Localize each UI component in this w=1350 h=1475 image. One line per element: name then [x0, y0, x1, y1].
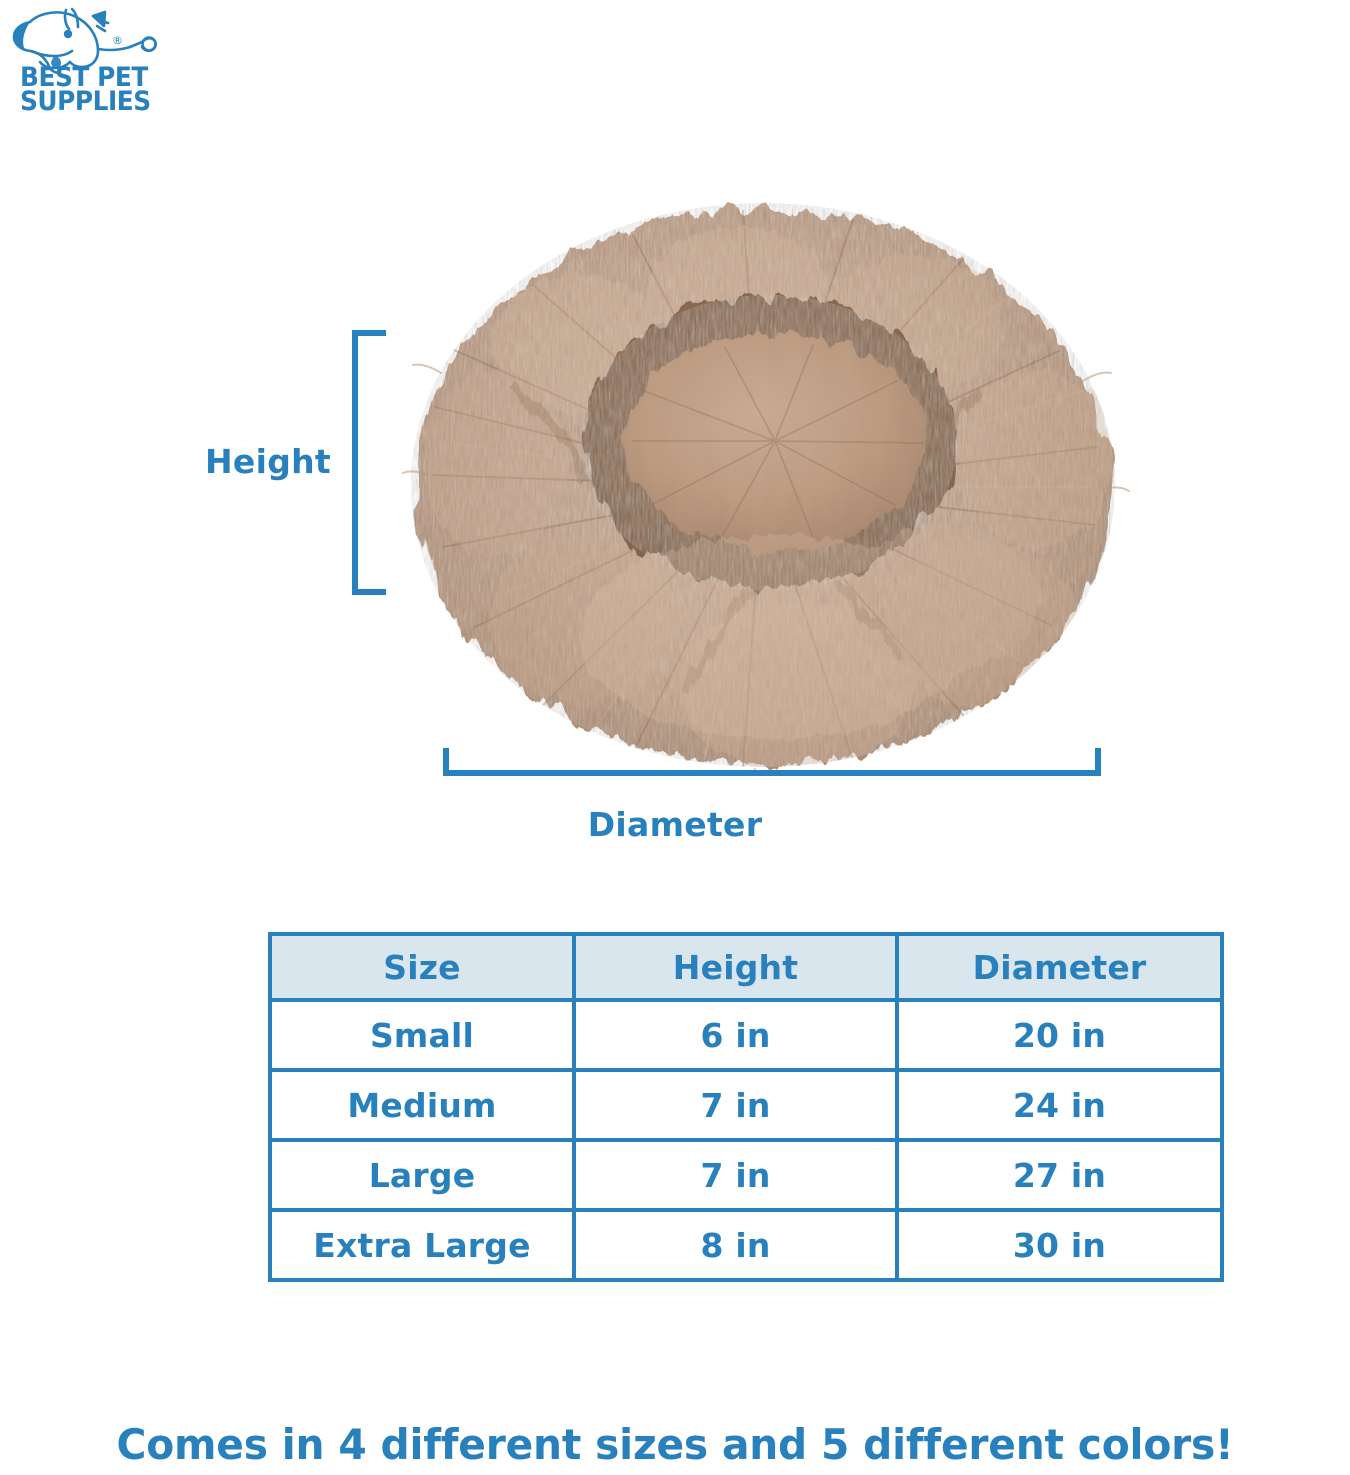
column-header-height: Height: [574, 934, 897, 1000]
product-figure: Height Diameter: [0, 150, 1350, 890]
registered-mark-icon: ®: [112, 34, 123, 47]
cell-size: Medium: [270, 1070, 574, 1140]
table-row: Large 7 in 27 in: [270, 1140, 1222, 1210]
table-row: Medium 7 in 24 in: [270, 1070, 1222, 1140]
diameter-measurement-bracket: [443, 748, 1101, 776]
brand-wordmark: BEST PET SUPPLIES: [20, 66, 170, 114]
cell-height: 7 in: [574, 1140, 897, 1210]
brand-wordmark-line-2: SUPPLIES: [20, 90, 158, 114]
diameter-label: Diameter: [0, 805, 1350, 844]
cell-size: Small: [270, 1000, 574, 1070]
table-row: Extra Large 8 in 30 in: [270, 1210, 1222, 1280]
brand-logo: ® BEST PET SUPPLIES: [8, 4, 168, 132]
column-header-diameter: Diameter: [897, 934, 1222, 1000]
cell-height: 6 in: [574, 1000, 897, 1070]
cell-diameter: 20 in: [897, 1000, 1222, 1070]
cell-diameter: 24 in: [897, 1070, 1222, 1140]
footer-caption: Comes in 4 different sizes and 5 differe…: [20, 1420, 1330, 1469]
height-measurement-bracket: [352, 330, 386, 595]
cell-diameter: 27 in: [897, 1140, 1222, 1210]
table-row: Small 6 in 20 in: [270, 1000, 1222, 1070]
cell-size: Large: [270, 1140, 574, 1210]
size-chart-table: Size Height Diameter Small 6 in 20 in Me…: [268, 932, 1224, 1282]
height-label: Height: [205, 442, 331, 481]
dog-bed-photo: [383, 175, 1143, 775]
cell-size: Extra Large: [270, 1210, 574, 1280]
cell-height: 8 in: [574, 1210, 897, 1280]
cell-diameter: 30 in: [897, 1210, 1222, 1280]
column-header-size: Size: [270, 934, 574, 1000]
table-header-row: Size Height Diameter: [270, 934, 1222, 1000]
cell-height: 7 in: [574, 1070, 897, 1140]
